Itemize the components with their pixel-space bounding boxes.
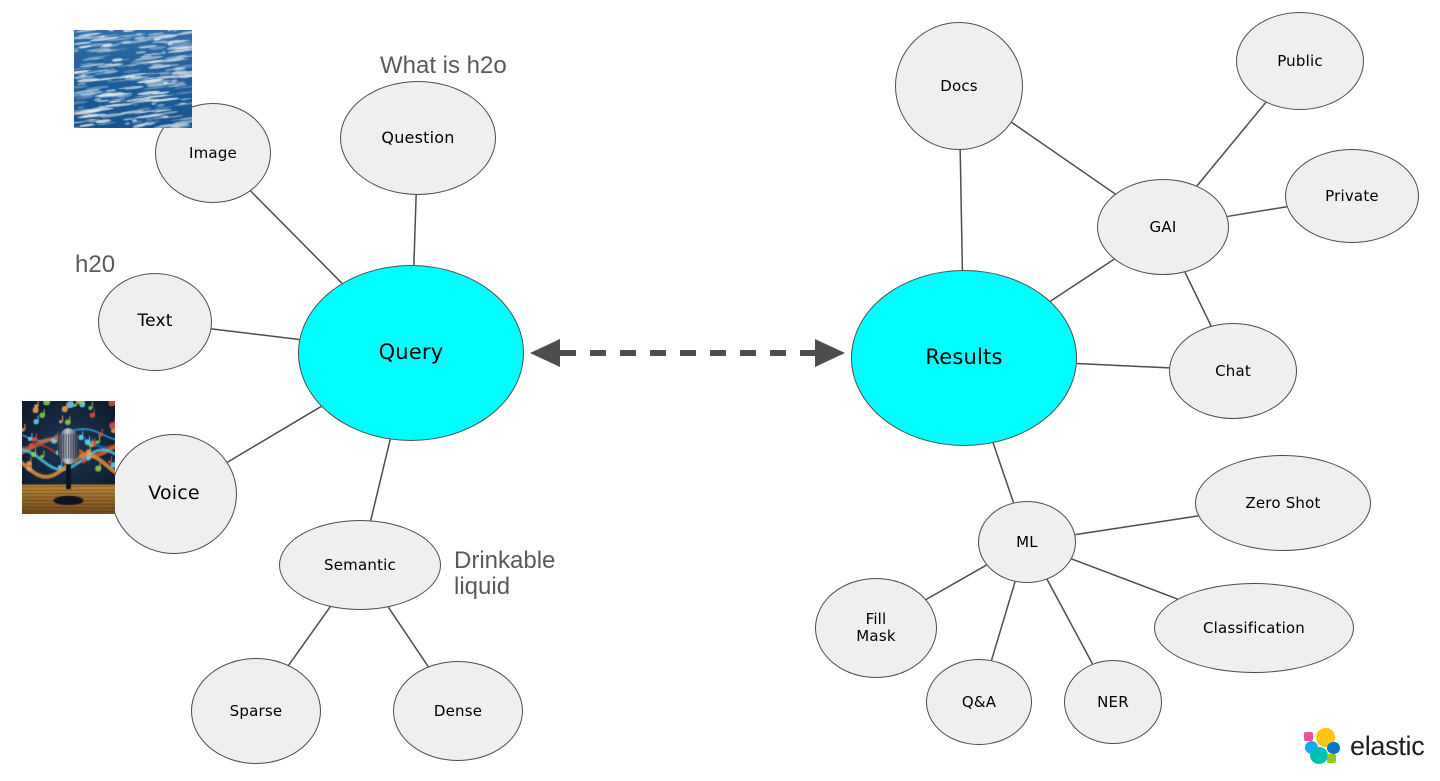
node-label-docs: Docs <box>940 78 978 95</box>
elastic-pink-square <box>1304 732 1313 741</box>
node-results[interactable]: Results <box>851 270 1077 446</box>
microphone-artwork-thumbnail <box>22 401 115 514</box>
elastic-darkblue-blob <box>1327 742 1340 754</box>
edge-question-query <box>414 195 416 265</box>
node-label-ml: ML <box>1016 534 1038 551</box>
node-ml[interactable]: ML <box>978 501 1076 583</box>
node-semantic[interactable]: Semantic <box>279 520 441 610</box>
edge-ml-fillmask <box>926 565 986 599</box>
node-label-image: Image <box>189 145 237 162</box>
node-public[interactable]: Public <box>1236 12 1364 110</box>
node-question[interactable]: Question <box>340 81 496 195</box>
node-label-ner: NER <box>1097 694 1129 711</box>
edge-gai-chat <box>1185 272 1211 326</box>
node-label-query: Query <box>379 341 444 365</box>
ocean-water-thumbnail <box>74 30 192 128</box>
elastic-logo-wordmark: elastic <box>1350 731 1424 762</box>
edge-ml-classification <box>1072 559 1178 599</box>
edge-semantic-query <box>371 439 390 520</box>
edge-image-query <box>251 191 342 283</box>
edge-text-query <box>211 329 299 340</box>
node-label-private: Private <box>1325 188 1379 205</box>
edge-gai-private <box>1227 207 1286 217</box>
edge-ml-zeroshot <box>1075 516 1198 535</box>
elastic-green-chip <box>1327 754 1336 763</box>
edge-gai-public <box>1197 102 1266 185</box>
edge-dense-semantic <box>388 607 428 666</box>
node-label-results: Results <box>925 346 1002 370</box>
node-label-fillmask: Fill Mask <box>856 611 895 645</box>
node-label-chat: Chat <box>1215 363 1251 380</box>
edge-ml-results <box>993 443 1013 503</box>
edge-docs-gai <box>1012 122 1116 194</box>
edge-ml-qa <box>992 582 1016 660</box>
node-label-sparse: Sparse <box>230 703 283 720</box>
elastic-teal-blob <box>1310 747 1328 764</box>
edge-gai-results <box>1050 259 1114 301</box>
edge-ml-ner <box>1047 579 1092 663</box>
node-voice[interactable]: Voice <box>111 434 237 554</box>
arrowhead-left <box>530 339 560 367</box>
node-query[interactable]: Query <box>298 265 524 441</box>
node-fillmask[interactable]: Fill Mask <box>815 578 937 678</box>
node-private[interactable]: Private <box>1285 149 1419 243</box>
arrowhead-right <box>815 339 845 367</box>
node-classification[interactable]: Classification <box>1154 583 1354 673</box>
node-label-zeroshot: Zero Shot <box>1245 495 1320 512</box>
node-dense[interactable]: Dense <box>393 661 523 761</box>
edge-docs-results <box>960 150 962 270</box>
node-docs[interactable]: Docs <box>895 22 1023 150</box>
node-text[interactable]: Text <box>98 273 212 371</box>
node-gai[interactable]: GAI <box>1097 179 1229 275</box>
node-label-qa: Q&A <box>962 694 996 711</box>
node-label-dense: Dense <box>434 703 482 720</box>
node-label-gai: GAI <box>1150 219 1177 236</box>
edge-voice-query <box>227 406 321 462</box>
node-chat[interactable]: Chat <box>1169 323 1297 419</box>
diagram-canvas: QueryImageQuestionTextVoiceSemanticSpars… <box>0 0 1440 781</box>
node-ner[interactable]: NER <box>1064 660 1162 744</box>
elastic-logo: elastic <box>1303 727 1424 765</box>
node-label-question: Question <box>381 129 454 147</box>
annotation-drinkable-liquid: Drinkable liquid <box>454 548 555 600</box>
node-sparse[interactable]: Sparse <box>191 658 321 764</box>
node-label-voice: Voice <box>148 483 200 504</box>
node-label-text: Text <box>137 312 172 331</box>
node-label-semantic: Semantic <box>324 557 396 574</box>
annotation-what-is-h2o: What is h2o <box>380 53 507 79</box>
node-label-classification: Classification <box>1203 620 1305 637</box>
node-qa[interactable]: Q&A <box>926 659 1032 745</box>
edge-sparse-semantic <box>289 607 331 665</box>
bidirectional-dashed-arrow <box>530 339 845 367</box>
elastic-logo-mark <box>1303 727 1341 765</box>
edge-chat-results <box>1077 363 1169 367</box>
node-zeroshot[interactable]: Zero Shot <box>1195 455 1371 551</box>
annotation-h20: h20 <box>75 252 115 278</box>
node-label-public: Public <box>1277 53 1323 70</box>
